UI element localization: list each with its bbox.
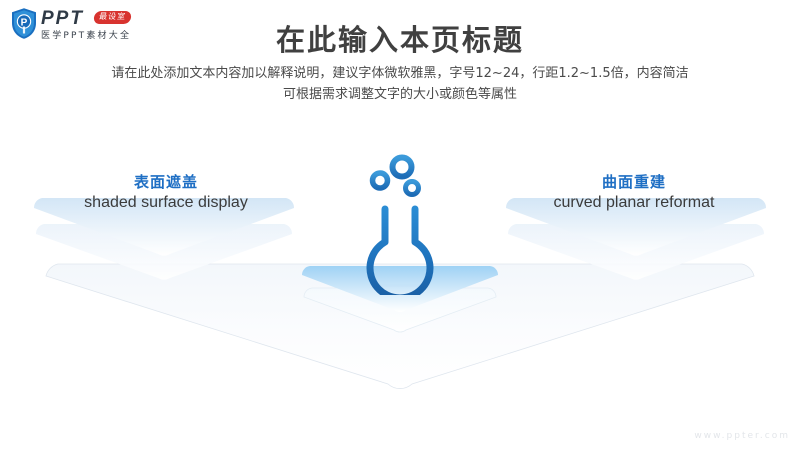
subtitle-line-1: 请在此处添加文本内容加以解释说明，建议字体微软雅黑，字号12~24，行距1.2~… bbox=[0, 63, 800, 84]
item-title-cn-left: 表面遮盖 bbox=[16, 172, 316, 192]
subtitle-line-2: 可根据需求调整文字的大小或颜色等属性 bbox=[0, 84, 800, 105]
item-label-left: 表面遮盖 shaded surface display bbox=[16, 172, 316, 214]
page-title: 在此输入本页标题 bbox=[0, 17, 800, 59]
flask-icon bbox=[345, 150, 455, 295]
item-title-en-right: curved planar reformat bbox=[484, 192, 784, 214]
slide-canvas: P PPT 最设室 医学PPT素材大全 在此输入本页标题 请在此处添加文本内容加… bbox=[0, 0, 800, 450]
item-label-right: 曲面重建 curved planar reformat bbox=[484, 172, 784, 214]
item-title-cn-right: 曲面重建 bbox=[484, 172, 784, 192]
page-subtitle: 请在此处添加文本内容加以解释说明，建议字体微软雅黑，字号12~24，行距1.2~… bbox=[0, 63, 800, 105]
footer-watermark: www.ppter.com bbox=[694, 431, 790, 441]
item-title-en-left: shaded surface display bbox=[16, 192, 316, 214]
bubble-group bbox=[373, 158, 419, 195]
